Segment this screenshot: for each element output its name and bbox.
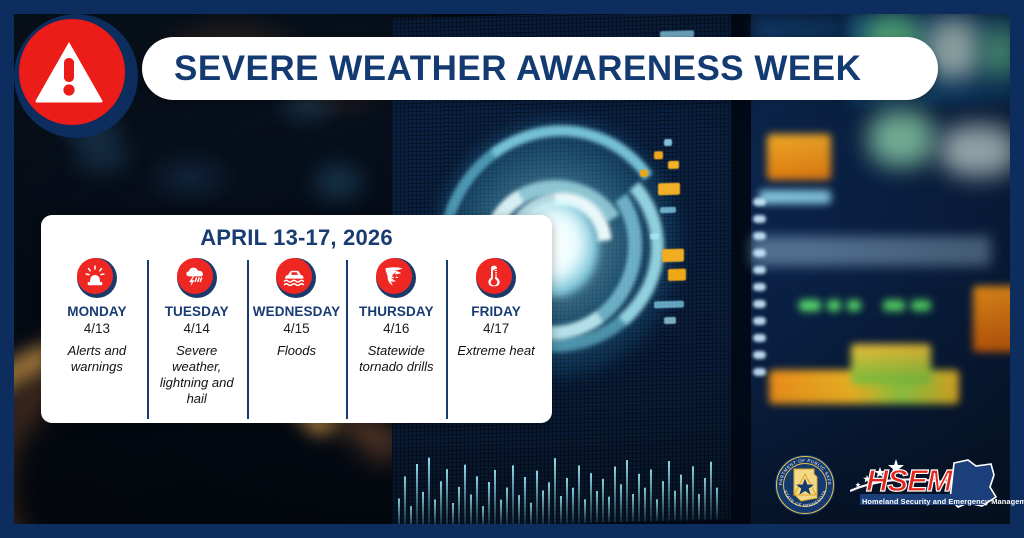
status-chip bbox=[662, 249, 684, 263]
day-description: Alerts and warnings bbox=[50, 343, 144, 375]
day-date: 4/15 bbox=[283, 320, 309, 338]
bokeh-blob bbox=[74, 134, 128, 172]
orange-graph-trace bbox=[767, 134, 831, 180]
day-description: Floods bbox=[277, 343, 316, 359]
status-chip bbox=[658, 183, 680, 196]
day-date: 4/14 bbox=[184, 320, 210, 338]
date-range: APRIL 13-17, 2026 bbox=[47, 225, 546, 251]
day-list: MONDAY 4/13 Alerts and warnings bbox=[47, 258, 546, 423]
status-chip bbox=[664, 139, 672, 146]
day-description: Statewide tornado drills bbox=[349, 343, 443, 375]
green-indicator bbox=[847, 300, 861, 311]
status-chip bbox=[660, 207, 676, 213]
flooded-car-icon bbox=[276, 258, 316, 298]
flooded-car-glyph bbox=[282, 264, 306, 288]
thermometer-icon bbox=[476, 258, 516, 298]
cyan-graph-trace bbox=[759, 190, 831, 204]
day-name: WEDNESDAY bbox=[253, 304, 340, 320]
siren-alarm-glyph bbox=[83, 264, 107, 288]
day-column-friday[interactable]: FRIDAY 4/17 Extreme heat bbox=[446, 258, 546, 423]
day-column-wednesday[interactable]: WEDNESDAY 4/15 Floods bbox=[247, 258, 347, 423]
day-name: TUESDAY bbox=[165, 304, 229, 320]
status-chip bbox=[664, 317, 676, 324]
day-column-monday[interactable]: MONDAY 4/13 Alerts and warnings bbox=[47, 258, 147, 423]
status-chip bbox=[654, 301, 684, 309]
day-name: MONDAY bbox=[67, 304, 126, 320]
status-chip bbox=[640, 170, 648, 177]
schedule-card: APRIL 13-17, 2026 bbox=[41, 215, 552, 423]
day-description: Extreme heat bbox=[457, 343, 534, 359]
status-chip bbox=[668, 269, 686, 282]
warning-triangle-icon bbox=[14, 14, 138, 138]
storm-cloud-lightning-glyph bbox=[183, 264, 207, 288]
tornado-glyph bbox=[382, 264, 406, 288]
status-chip bbox=[654, 151, 663, 159]
day-description: Severe weather, lightning and hail bbox=[150, 343, 244, 406]
day-column-thursday[interactable]: THURSDAY 4/16 Statewide tornado drills bbox=[346, 258, 446, 423]
day-name: FRIDAY bbox=[471, 304, 521, 320]
spectrum-bars bbox=[392, 427, 731, 524]
poster-root: SEVERE WEATHER AWARENESS WEEK APRIL 13-1… bbox=[0, 0, 1024, 538]
exclamation-triangle-glyph bbox=[34, 40, 104, 104]
hsem-tagline: Homeland Security and Emergency Manageme… bbox=[862, 497, 1024, 506]
orange-graph-trace bbox=[973, 286, 1010, 352]
day-column-tuesday[interactable]: TUESDAY 4/14 Severe weather, lightning a… bbox=[147, 258, 247, 423]
siren-alarm-icon bbox=[77, 258, 117, 298]
storm-cloud-lightning-icon bbox=[177, 258, 217, 298]
day-date: 4/16 bbox=[383, 320, 409, 338]
green-indicator bbox=[883, 300, 905, 311]
status-chip bbox=[650, 233, 659, 239]
indicator-dot-column bbox=[753, 198, 767, 385]
day-name: THURSDAY bbox=[359, 304, 434, 320]
day-date: 4/13 bbox=[84, 320, 110, 338]
green-graph-blur bbox=[869, 110, 935, 166]
logo-group: DEPARTMENT OF PUBLIC SAFETY STATE OF MIN… bbox=[774, 454, 998, 516]
orange-graph-trace bbox=[851, 344, 931, 384]
minnesota-dps-seal: DEPARTMENT OF PUBLIC SAFETY STATE OF MIN… bbox=[774, 454, 836, 516]
green-graph-blur bbox=[941, 124, 1010, 176]
day-date: 4/17 bbox=[483, 320, 509, 338]
hsem-acronym: HSEM bbox=[866, 463, 952, 499]
green-indicator bbox=[911, 300, 931, 311]
bokeh-blob bbox=[314, 164, 362, 200]
hsem-logo: HSEM Homeland Security and Emergency Man… bbox=[850, 457, 998, 513]
green-indicator bbox=[827, 300, 841, 311]
monitor-panel bbox=[751, 236, 991, 266]
tornado-icon bbox=[376, 258, 416, 298]
title-banner: SEVERE WEATHER AWARENESS WEEK bbox=[142, 37, 938, 100]
green-indicator bbox=[799, 300, 821, 311]
thermometer-glyph bbox=[482, 264, 506, 288]
status-chip bbox=[668, 161, 679, 169]
page-title: SEVERE WEATHER AWARENESS WEEK bbox=[174, 49, 861, 89]
green-graph-blur bbox=[981, 26, 1010, 76]
